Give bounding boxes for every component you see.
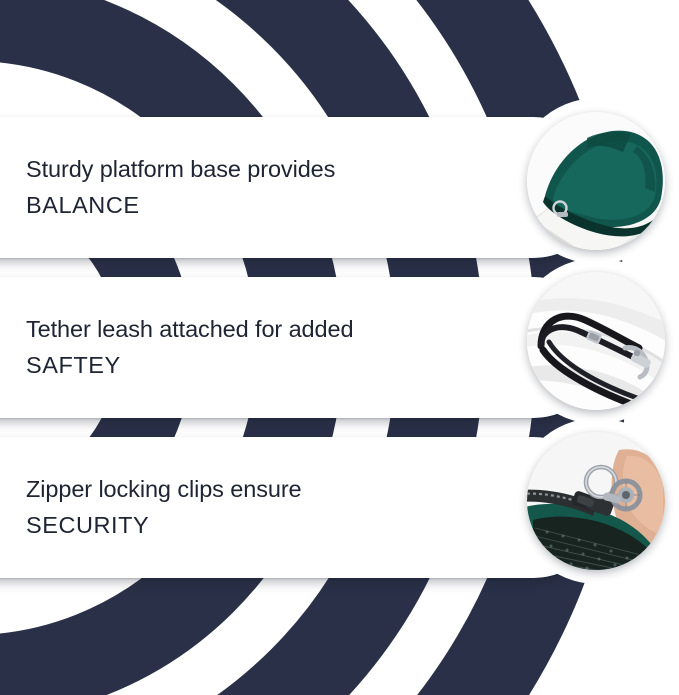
green-pouch-on-white-platform-base-photo [527, 112, 665, 250]
card-saftey-line-2: SAFTEY [26, 348, 506, 384]
black-tether-leash-photo [527, 272, 665, 410]
zipper-locking-clips-photo [527, 432, 665, 570]
card-balance-line-1: Sturdy platform base provides [26, 152, 496, 188]
card-balance-line-2: BALANCE [26, 188, 496, 224]
feature-highlights-graphic: Sturdy platform base provides BALANCE [0, 0, 679, 695]
card-security-line-1: Zipper locking clips ensure [26, 472, 496, 508]
card-security-line-2: SECURITY [26, 508, 496, 544]
card-saftey-line-1: Tether leash attached for added [26, 312, 506, 348]
